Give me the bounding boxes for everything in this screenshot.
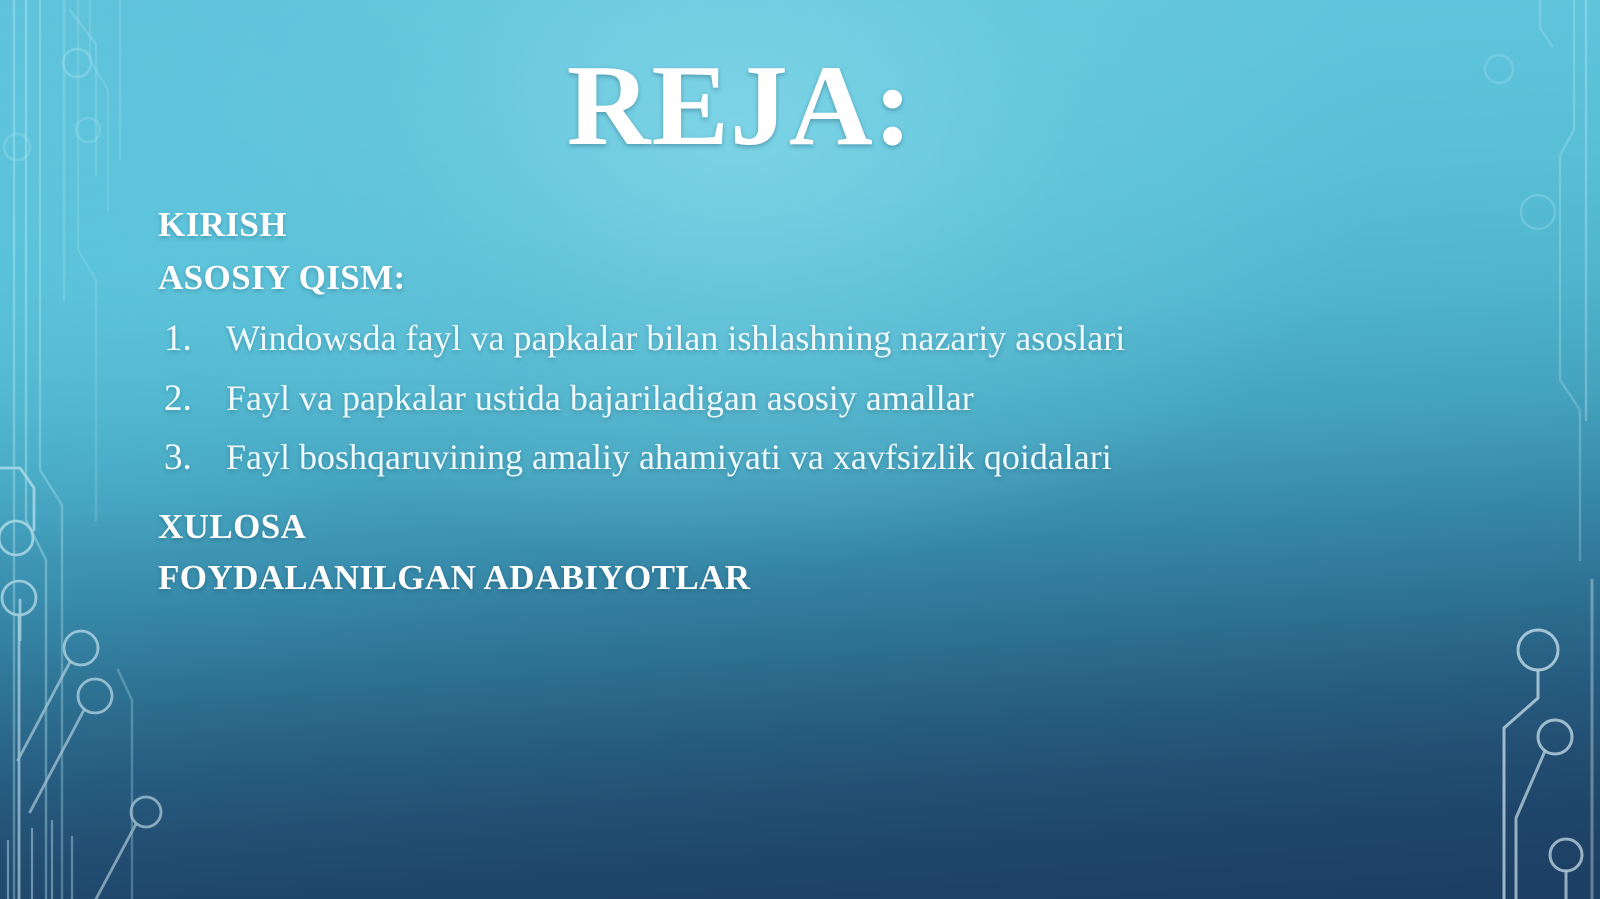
list-item: Fayl va papkalar ustida bajariladigan as… (158, 370, 1308, 426)
slide-title: REJA: (0, 48, 1600, 164)
plan-list: Windowsda fayl va papkalar bilan ishlash… (158, 310, 1408, 484)
list-item: Windowsda fayl va papkalar bilan ishlash… (158, 310, 1308, 366)
heading-kirish: KIRISH (158, 198, 1408, 251)
presentation-slide: REJA: KIRISH ASOSIY QISM: Windowsda fayl… (0, 0, 1600, 899)
slide-title-text: REJA: (567, 48, 1034, 164)
heading-asosiy-qism: ASOSIY QISM: (158, 251, 1408, 304)
heading-xulosa: XULOSA (158, 501, 1408, 552)
list-item: Fayl boshqaruvining amaliy ahamiyati va … (158, 429, 1308, 485)
headings-top: KIRISH ASOSIY QISM: (158, 198, 1408, 304)
slide-body: KIRISH ASOSIY QISM: Windowsda fayl va pa… (158, 198, 1408, 603)
heading-foydalanilgan-adabiyotlar: FOYDALANILGAN ADABIYOTLAR (158, 552, 1408, 603)
headings-bottom: XULOSA FOYDALANILGAN ADABIYOTLAR (158, 501, 1408, 603)
